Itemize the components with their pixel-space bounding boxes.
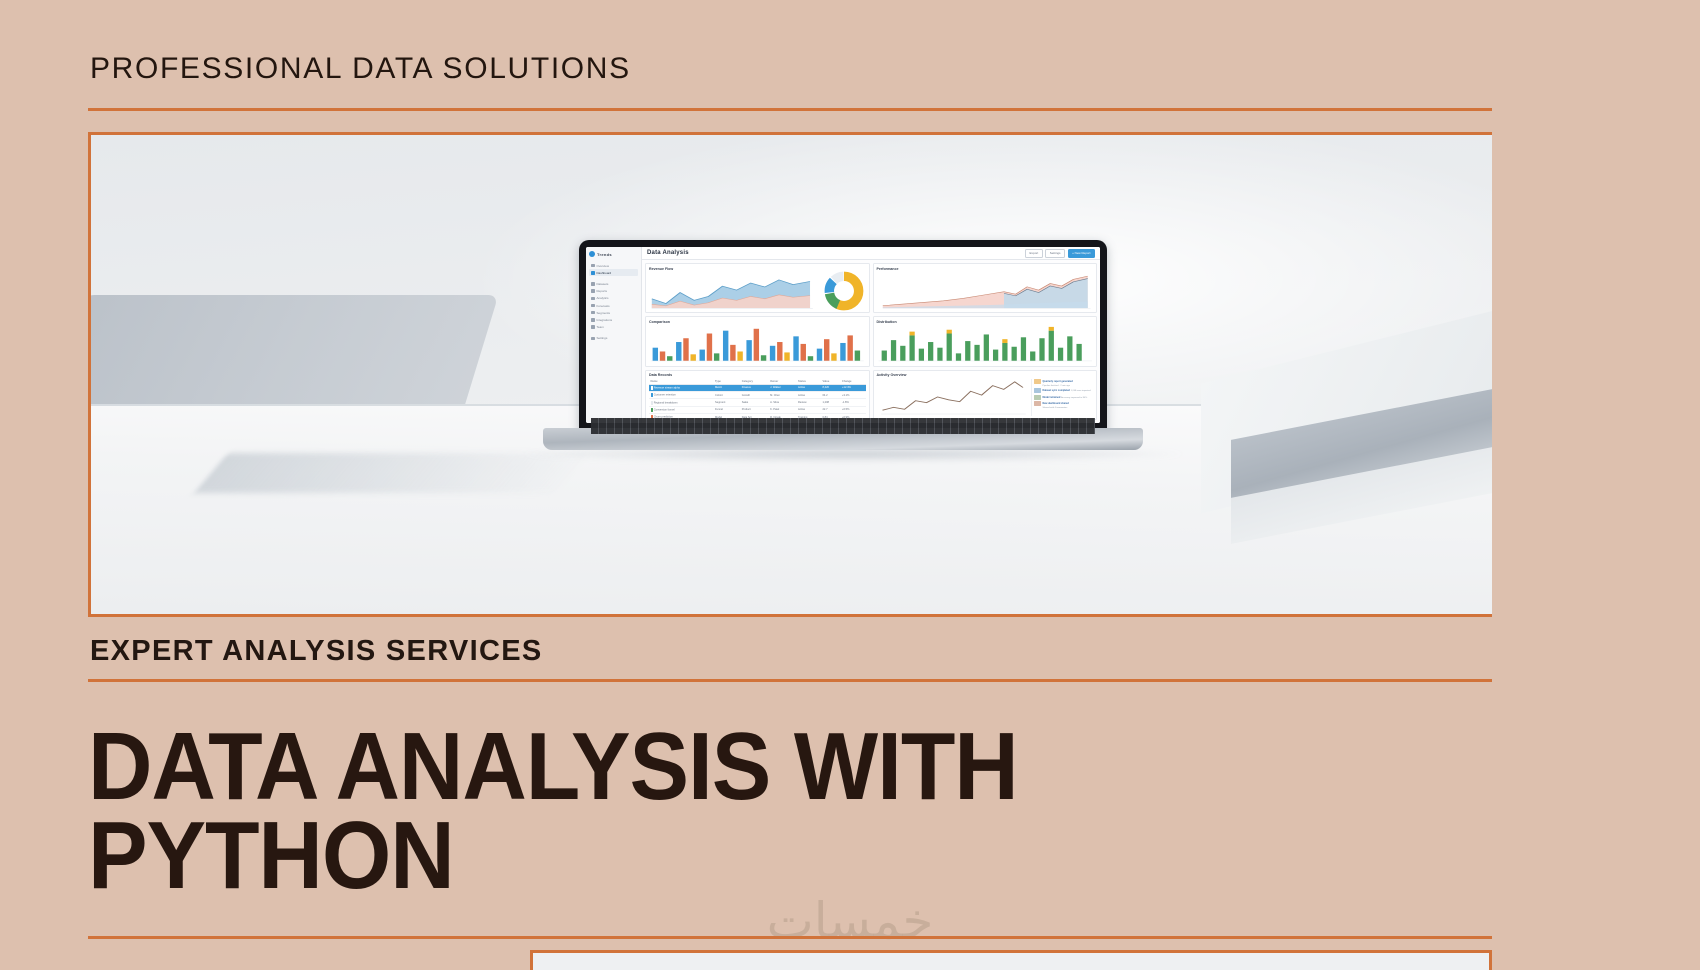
cell-change: -1.8% <box>840 399 865 406</box>
cell-owner: M. Chen <box>769 392 797 399</box>
users-icon <box>591 325 595 329</box>
dashboard-actions: Export Settings + New Report <box>1025 249 1095 258</box>
row-swatch <box>651 386 654 390</box>
card-body: Quarterly report generated Pipeline fini… <box>877 379 1094 417</box>
dashboard-app: Trends Overview Dashboard <box>586 247 1100 423</box>
sub-eyebrow-text: EXPERT ANALYSIS SERVICES <box>90 635 543 668</box>
cell-status: Active <box>797 392 821 399</box>
feed-subtitle: Accuracy improved to 94% <box>1061 397 1087 399</box>
row-swatch <box>651 401 654 405</box>
gear-icon <box>591 337 595 341</box>
document-icon <box>591 289 595 293</box>
chart-revenue-breakdown-donut <box>822 272 866 310</box>
card-body <box>649 325 866 363</box>
card-title: Activity Overview <box>877 373 1094 377</box>
next-section-frame <box>530 950 1492 970</box>
logo-mark-icon <box>589 251 595 257</box>
card-data-records: Data Records Name Type Category <box>645 370 870 420</box>
chart-icon <box>591 297 595 301</box>
table-row[interactable]: Conversion funnel Funnel Product K. Pate… <box>649 406 866 413</box>
cell-category: Finance <box>740 384 768 391</box>
dashboard-icon <box>591 271 595 275</box>
feed-title: New dashboard shared <box>1043 402 1069 405</box>
cell-status: Active <box>797 406 821 413</box>
feed-subtitle: Shared with 4 teammates <box>1043 407 1068 409</box>
cell-owner: J. Walker <box>769 384 797 391</box>
sidebar-item-settings[interactable]: Settings <box>589 335 638 342</box>
cell-status: Review <box>797 399 821 406</box>
cell-type: Metric <box>714 384 741 391</box>
dashboard-header: Data Analysis Export Settings + New Repo… <box>642 247 1100 260</box>
cell-category: Sales <box>740 399 768 406</box>
table-row[interactable]: Regional breakdown Segment Sales A. Silv… <box>649 399 866 406</box>
sidebar-item-label: Team <box>597 325 604 329</box>
cell-change: +6.5% <box>840 406 865 413</box>
card-distribution: Distribution <box>873 316 1098 366</box>
dashboard-title: Data Analysis <box>647 250 689 256</box>
feed-subtitle: 1,248 rows imported <box>1071 390 1091 392</box>
cell-type: Cohort <box>714 392 741 399</box>
cell-type: Funnel <box>714 406 741 413</box>
grid-icon <box>591 264 595 268</box>
sidebar-item-segments[interactable]: Segments <box>589 309 638 316</box>
card-title: Data Records <box>649 373 866 377</box>
chart-performance <box>877 272 1094 310</box>
pie-icon <box>591 311 595 315</box>
sidebar-item-label: Settings <box>597 336 608 340</box>
card-body <box>877 272 1094 310</box>
table-row[interactable]: Customer retention Cohort Growth M. Chen… <box>649 392 866 399</box>
dashboard-main: Data Analysis Export Settings + New Repo… <box>642 247 1100 423</box>
cell-value: 8,420 <box>821 384 841 391</box>
card-revenue-flow: Revenue Flow <box>645 263 870 313</box>
sidebar-item-label: Dashboard <box>597 271 612 275</box>
card-title: Comparison <box>649 320 866 324</box>
chart-comparison <box>649 325 866 363</box>
watermark-text: خمسات <box>0 892 1700 950</box>
cell-value: 22.7 <box>821 406 841 413</box>
trend-icon <box>591 304 595 308</box>
sidebar-item-label: Forecasts <box>597 304 610 308</box>
list-item[interactable]: Model retrained Accuracy improved to 94% <box>1034 395 1093 400</box>
cell-category: Growth <box>740 392 768 399</box>
top-eyebrow-text: PROFESSIONAL DATA SOLUTIONS <box>90 52 631 86</box>
feed-title: Quarterly report generated <box>1043 380 1073 383</box>
card-comparison: Comparison <box>645 316 870 366</box>
cell-name: Customer retention <box>649 392 714 399</box>
new-report-button[interactable]: + New Report <box>1068 249 1095 258</box>
sidebar-item-label: Integrations <box>597 318 613 322</box>
sidebar-item-analytics[interactable]: Analytics <box>589 295 638 302</box>
sidebar-item-label: Reports <box>597 289 608 293</box>
row-swatch <box>651 408 654 412</box>
right-margin-band <box>1492 0 1700 970</box>
cell-value: 64.2 <box>821 392 841 399</box>
cell-category: Product <box>740 406 768 413</box>
laptop-lid: Trends Overview Dashboard <box>579 240 1107 432</box>
sidebar-item-team[interactable]: Team <box>589 324 638 331</box>
laptop-screen: Trends Overview Dashboard <box>586 247 1100 423</box>
divider-middle <box>88 679 1492 682</box>
cell-owner: A. Silva <box>769 399 797 406</box>
feed-title: Model retrained <box>1043 396 1061 399</box>
sidebar-item-overview[interactable]: Overview <box>589 262 638 269</box>
hero-photo: Trends Overview Dashboard <box>91 135 1611 614</box>
chart-revenue-flow <box>649 272 819 310</box>
sidebar-item-reports[interactable]: Reports <box>589 288 638 295</box>
card-activity: Activity Overview <box>873 370 1098 420</box>
thumbnail-icon <box>1034 395 1041 400</box>
export-button[interactable]: Export <box>1025 249 1043 258</box>
card-body <box>877 325 1094 363</box>
settings-button[interactable]: Settings <box>1045 249 1065 258</box>
sidebar-item-label: Segments <box>597 311 611 315</box>
sidebar-item-datasets[interactable]: Datasets <box>589 280 638 287</box>
card-performance: Performance <box>873 263 1098 313</box>
poster-canvas: PROFESSIONAL DATA SOLUTIONS <box>0 0 1700 970</box>
list-item[interactable]: New dashboard shared Shared with 4 teamm… <box>1034 401 1093 409</box>
sidebar-item-label: Datasets <box>597 282 609 286</box>
divider-top <box>88 108 1492 111</box>
sidebar-item-label: Analytics <box>597 296 609 300</box>
table-row[interactable]: Revenue stream alpha Metric Finance J. W… <box>649 384 866 391</box>
feed-subtitle: Pipeline finished · 2 min ago <box>1043 385 1070 387</box>
row-swatch <box>651 393 654 397</box>
card-body <box>649 272 866 310</box>
cell-change: +3.1% <box>840 392 865 399</box>
dashboard-grid: Revenue Flow <box>642 260 1100 423</box>
card-title: Distribution <box>877 320 1094 324</box>
list-item[interactable]: Quarterly report generated Pipeline fini… <box>1034 379 1093 387</box>
sidebar-item-integrations[interactable]: Integrations <box>589 316 638 323</box>
dashboard-logo: Trends <box>589 251 638 257</box>
cell-owner: K. Patel <box>769 406 797 413</box>
laptop: Trends Overview Dashboard <box>543 240 1143 470</box>
page-title-line-2: PYTHON <box>88 811 1260 900</box>
cell-name: Revenue stream alpha <box>649 384 714 391</box>
cell-name: Conversion funnel <box>649 406 714 413</box>
thumbnail-icon <box>1034 379 1041 384</box>
thumbnail-icon <box>1034 401 1041 406</box>
laptop-keyboard <box>591 418 1095 434</box>
data-table: Name Type Category Owner Status Value Ch… <box>649 379 866 420</box>
card-title: Performance <box>877 267 1094 271</box>
logo-text: Trends <box>597 252 612 257</box>
page-title-line-1: DATA ANALYSIS WITH <box>88 722 1260 811</box>
database-icon <box>591 282 595 286</box>
cell-value: 1,208 <box>821 399 841 406</box>
sidebar-item-label: Overview <box>597 264 610 268</box>
cell-change: +12.4% <box>840 384 865 391</box>
sidebar-item-forecasts[interactable]: Forecasts <box>589 302 638 309</box>
list-item[interactable]: Dataset sync completed 1,248 rows import… <box>1034 388 1093 393</box>
activity-feed: Quarterly report generated Pipeline fini… <box>1031 379 1093 417</box>
cell-name: Regional breakdown <box>649 399 714 406</box>
chart-activity <box>877 379 1029 417</box>
cell-type: Segment <box>714 399 741 406</box>
dashboard-sidebar: Trends Overview Dashboard <box>586 247 642 423</box>
plug-icon <box>591 318 595 322</box>
thumbnail-icon <box>1034 388 1041 393</box>
feed-title: Dataset sync completed <box>1043 389 1070 392</box>
hero-photo-frame: Trends Overview Dashboard <box>88 132 1614 617</box>
chart-distribution <box>877 325 1094 363</box>
cell-status: Active <box>797 384 821 391</box>
page-title: DATA ANALYSIS WITH PYTHON <box>88 722 1260 901</box>
sidebar-item-dashboard[interactable]: Dashboard <box>589 269 638 276</box>
divider-bottom <box>88 936 1492 939</box>
